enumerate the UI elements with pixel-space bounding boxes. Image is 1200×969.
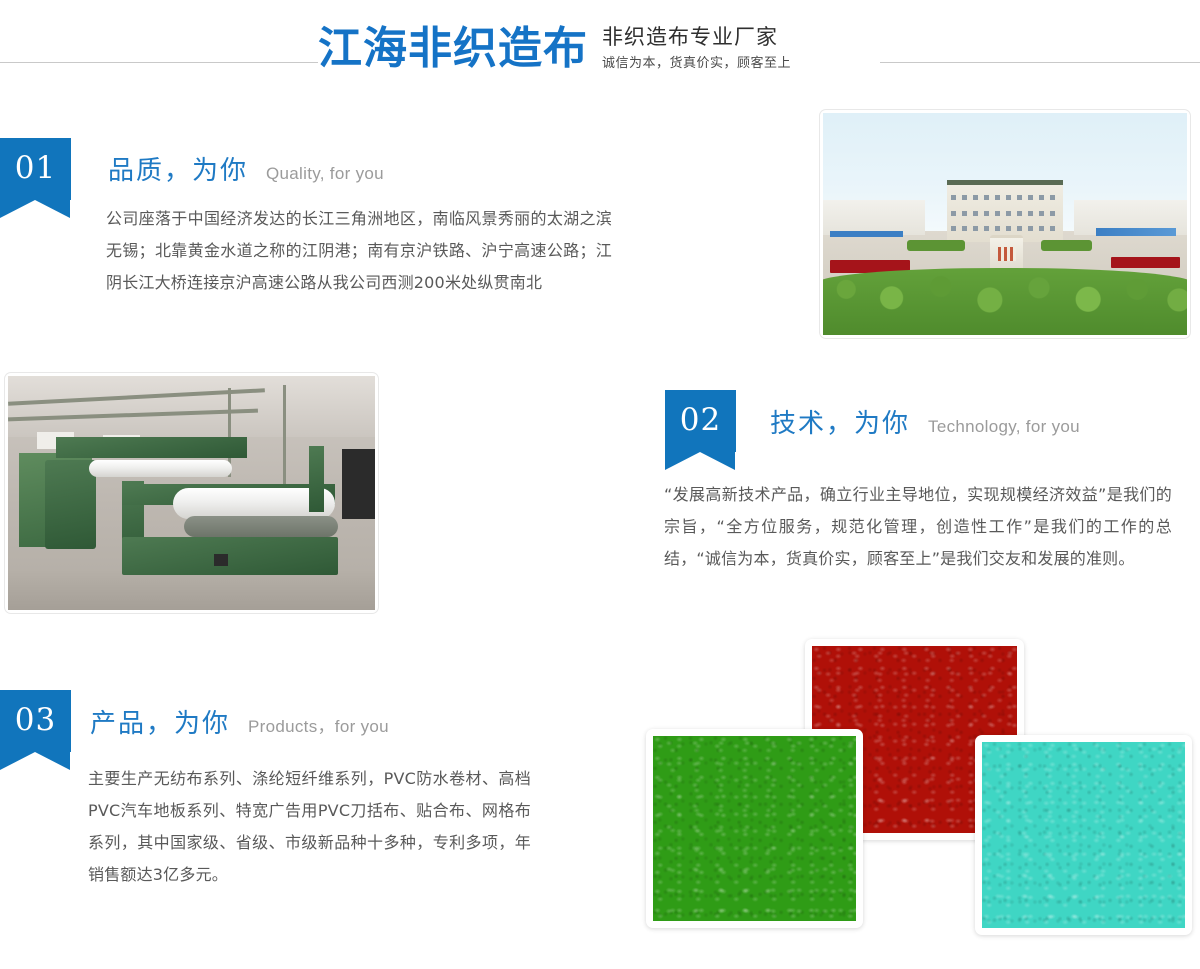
section-title-en-03: Products，for you [248,712,389,737]
section-badge-01: 01 [0,138,71,200]
brand-tagline: 非织造布专业厂家 [602,23,791,51]
section-title-en-02: Technology, for you [928,417,1080,437]
section-body-02: “发展高新技术产品，确立行业主导地位，实现规模经济效益”是我们的宗旨，“全方位服… [664,479,1172,575]
pvc-swatch-green [646,729,863,928]
factory-aerial-photo [820,110,1190,338]
pvc-swatch-green-fill [653,736,856,921]
section-badge-02: 02 [665,390,736,452]
section-heading-01: 品质，为你 Quality, for you [108,150,384,187]
promo-page: 江海非织造布 非织造布专业厂家 诚信为本，货真价实，顾客至上 01 品质，为你 … [0,0,1200,969]
section-body-03: 主要生产无纺布系列、涤纶短纤维系列，PVC防水卷材、高档PVC汽车地板系列、特宽… [88,763,531,891]
section-title-cn-01: 品质，为你 [108,150,248,187]
section-badge-03: 03 [0,690,71,752]
production-machine-photo [5,373,378,613]
brand-slogan: 诚信为本，货真价实，顾客至上 [602,54,791,74]
section-title-en-01: Quality, for you [266,164,384,184]
pvc-swatch-teal-fill [982,742,1185,928]
section-body-01: 公司座落于中国经济发达的长江三角洲地区，南临风景秀丽的太湖之滨无锡；北靠黄金水道… [106,203,612,299]
section-title-cn-03: 产品，为你 [90,703,230,740]
section-title-cn-02: 技术，为你 [770,403,910,440]
header-divider-left [0,62,318,63]
brand-title: 江海非织造布 [318,18,588,78]
section-heading-03: 产品，为你 Products，for you [90,703,389,740]
pvc-swatch-teal [975,735,1192,935]
header-divider-right [880,62,1200,63]
header-brand-block: 江海非织造布 非织造布专业厂家 诚信为本，货真价实，顾客至上 [318,18,863,90]
section-heading-02: 技术，为你 Technology, for you [770,403,1080,440]
page-header: 江海非织造布 非织造布专业厂家 诚信为本，货真价实，顾客至上 [0,0,1200,100]
brand-tagline-block: 非织造布专业厂家 诚信为本，货真价实，顾客至上 [602,18,791,74]
